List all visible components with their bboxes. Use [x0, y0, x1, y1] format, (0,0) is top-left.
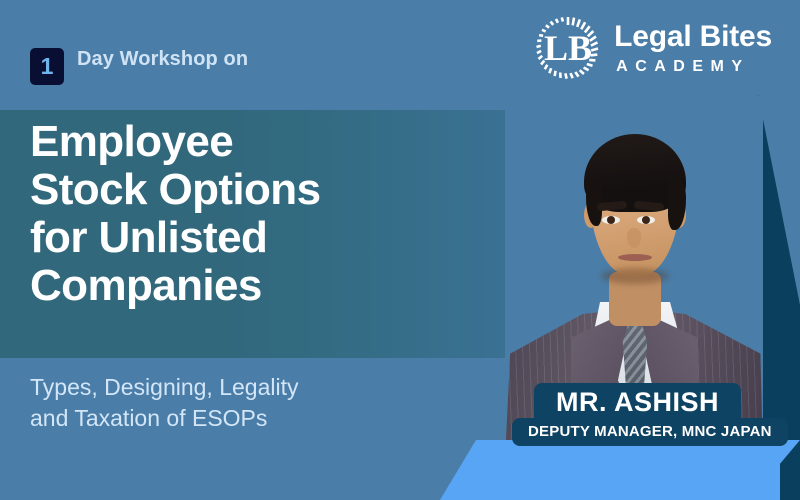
- photo-chin-shadow: [601, 268, 669, 284]
- brand-wordmark: Legal Bites ACADEMY: [614, 22, 772, 75]
- day-count-badge: 1: [30, 48, 64, 85]
- subtitle-line-2: and Taxation of ESOPs: [30, 403, 470, 434]
- page-subtitle: Types, Designing, Legality and Taxation …: [30, 372, 470, 433]
- lb-monogram-icon: LB: [534, 14, 602, 82]
- brand-logo: LB Legal Bites ACADEMY: [534, 14, 772, 82]
- photo-eye-left: [602, 216, 620, 224]
- headline-line-4: Companies: [30, 262, 500, 310]
- svg-text:LB: LB: [544, 28, 592, 68]
- headline-line-2: Stock Options: [30, 166, 500, 214]
- subtitle-line-1: Types, Designing, Legality: [30, 372, 470, 403]
- headline-line-3: for Unlisted: [30, 214, 500, 262]
- speaker-designation-plate: DEPUTY MANAGER, MNC JAPAN: [512, 418, 788, 446]
- workshop-duration-row: 1 Day Workshop on: [30, 48, 248, 85]
- brand-tagline: ACADEMY: [614, 59, 772, 75]
- page-title: Employee Stock Options for Unlisted Comp…: [30, 118, 500, 310]
- brand-name: Legal Bites: [614, 22, 772, 52]
- headline-line-1: Employee: [30, 118, 500, 166]
- photo-eye-right: [637, 216, 655, 224]
- photo-nose: [627, 228, 641, 248]
- day-count-value: 1: [41, 55, 54, 78]
- workshop-label: Day Workshop on: [77, 48, 248, 71]
- blue-trapezoid-overlay: [440, 440, 800, 500]
- promo-banner: 1 Day Workshop on: [0, 0, 800, 500]
- photo-mouth: [618, 254, 652, 261]
